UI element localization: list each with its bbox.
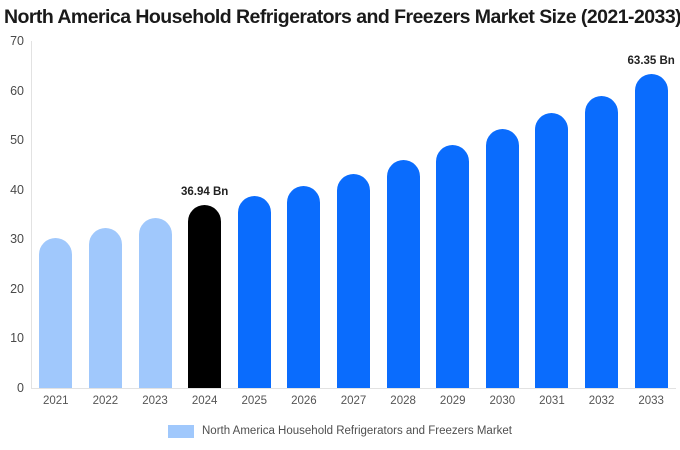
- bar-slot[interactable]: [436, 41, 469, 388]
- x-axis-tick-label-2030: 2030: [478, 393, 528, 409]
- bar-slot[interactable]: [39, 41, 72, 388]
- x-axis-tick-label-2024: 2024: [180, 393, 230, 409]
- legend-label-market: North America Household Refrigerators an…: [202, 424, 512, 438]
- bar-slot[interactable]: [387, 41, 420, 388]
- y-axis-tick-label: 70: [0, 35, 24, 47]
- x-axis-tick-label-2029: 2029: [428, 393, 478, 409]
- x-axis-tick-label-2023: 2023: [130, 393, 180, 409]
- bar-2031[interactable]: [535, 113, 568, 388]
- x-axis: 2021202220232024202520262027202820292030…: [31, 393, 676, 413]
- bar-2029[interactable]: [436, 145, 469, 388]
- bar-slot[interactable]: [585, 41, 618, 388]
- x-axis-tick-label-2021: 2021: [31, 393, 81, 409]
- y-axis-tick-label: 30: [0, 233, 24, 245]
- bar-2027[interactable]: [337, 174, 370, 388]
- bar-slot[interactable]: [188, 41, 221, 388]
- y-axis-tick-label: 60: [0, 85, 24, 97]
- chart-legend: North America Household Refrigerators an…: [0, 424, 680, 438]
- y-axis-tick-label: 50: [0, 134, 24, 146]
- x-axis-tick-label-2032: 2032: [577, 393, 627, 409]
- bar-value-label-2033: 63.35 Bn: [617, 55, 680, 67]
- x-axis-tick-label-2028: 2028: [378, 393, 428, 409]
- legend-swatch-market: [168, 425, 194, 438]
- bar-slot[interactable]: [535, 41, 568, 388]
- x-axis-tick-label-2026: 2026: [279, 393, 329, 409]
- bar-slot[interactable]: [337, 41, 370, 388]
- bar-2026[interactable]: [287, 186, 320, 388]
- chart-container: North America Household Refrigerators an…: [0, 0, 680, 450]
- bar-2032[interactable]: [585, 96, 618, 388]
- bar-2021[interactable]: [39, 238, 72, 388]
- x-axis-tick-label-2033: 2033: [626, 393, 676, 409]
- x-axis-tick-label-2022: 2022: [81, 393, 131, 409]
- bar-value-label-2024: 36.94 Bn: [170, 186, 239, 198]
- bar-2028[interactable]: [387, 160, 420, 388]
- y-axis-tick-label: 40: [0, 184, 24, 196]
- bar-slot[interactable]: [635, 41, 668, 388]
- bar-slot[interactable]: [238, 41, 271, 388]
- bar-2025[interactable]: [238, 196, 271, 388]
- x-axis-tick-label-2031: 2031: [527, 393, 577, 409]
- chart-title: North America Household Refrigerators an…: [4, 4, 680, 30]
- y-axis: 706050403020100: [0, 41, 24, 389]
- x-axis-tick-label-2025: 2025: [229, 393, 279, 409]
- x-axis-tick-label-2027: 2027: [329, 393, 379, 409]
- bar-slot[interactable]: [89, 41, 122, 388]
- bar-2024[interactable]: [188, 205, 221, 388]
- bar-2022[interactable]: [89, 228, 122, 388]
- x-axis-line: [31, 388, 676, 389]
- bar-slot[interactable]: [287, 41, 320, 388]
- bar-slot[interactable]: [486, 41, 519, 388]
- bar-slot[interactable]: [139, 41, 172, 388]
- y-axis-tick-label: 10: [0, 332, 24, 344]
- y-axis-tick-label: 20: [0, 283, 24, 295]
- y-axis-tick-label: 0: [0, 382, 24, 394]
- bar-2023[interactable]: [139, 218, 172, 388]
- bar-2030[interactable]: [486, 129, 519, 388]
- plot-area: 36.94 Bn63.35 Bn: [31, 41, 676, 388]
- bar-2033[interactable]: [635, 74, 668, 388]
